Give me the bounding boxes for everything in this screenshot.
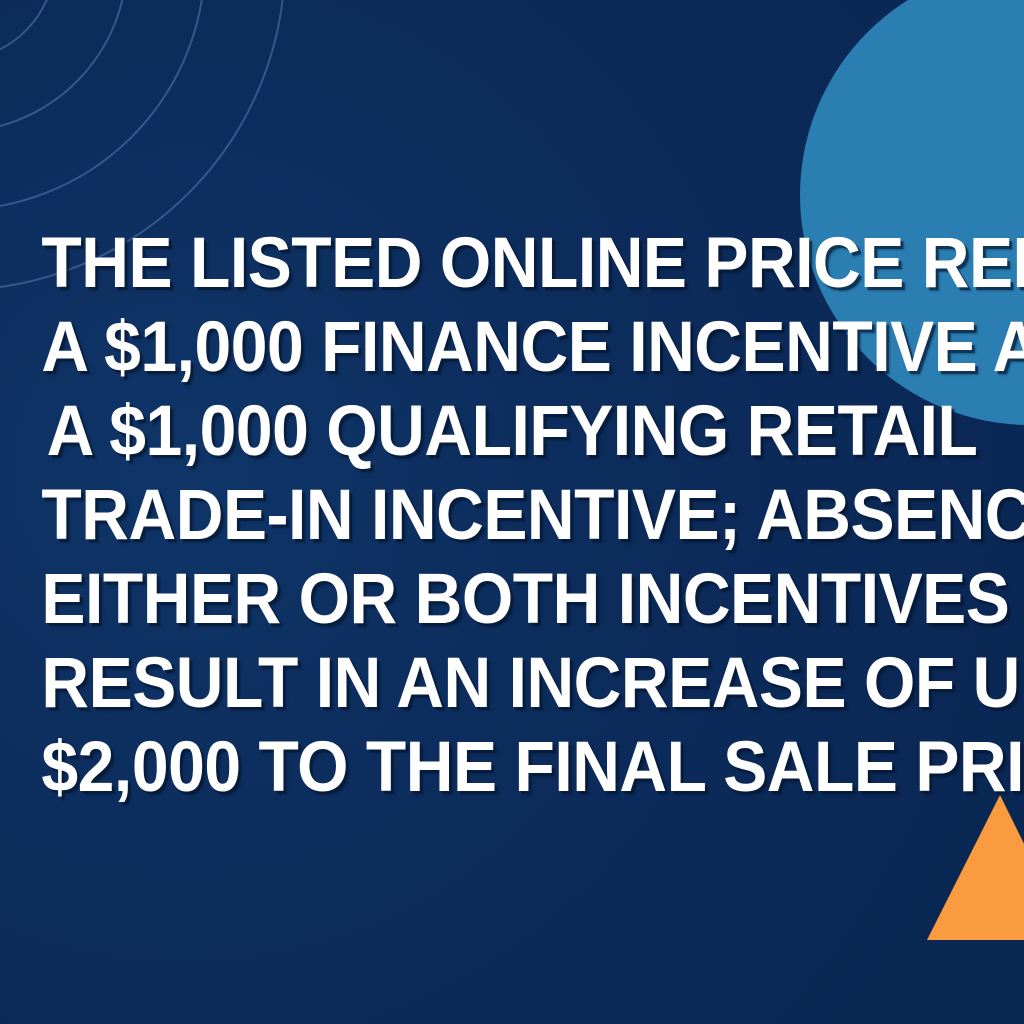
disclaimer-line-3: A $1,000 QUALIFYING RETAIL (41, 390, 982, 474)
disclaimer-line-5: EITHER OR BOTH INCENTIVES WILL (41, 558, 982, 642)
promo-banner: THE LISTED ONLINE PRICE REFLECTS A $1,00… (0, 0, 1024, 1024)
disclaimer-line-2: A $1,000 FINANCE INCENTIVE AND (41, 306, 982, 390)
disclaimer-line-4: TRADE-IN INCENTIVE; ABSENCE OF (41, 474, 982, 558)
disclaimer-line-6: RESULT IN AN INCREASE OF UP TO (41, 642, 982, 726)
disclaimer-line-7: $2,000 TO THE FINAL SALE PRICE. (41, 726, 982, 810)
disclaimer-text-block: THE LISTED ONLINE PRICE REFLECTS A $1,00… (0, 222, 1024, 810)
disclaimer-line-1: THE LISTED ONLINE PRICE REFLECTS (41, 222, 982, 306)
